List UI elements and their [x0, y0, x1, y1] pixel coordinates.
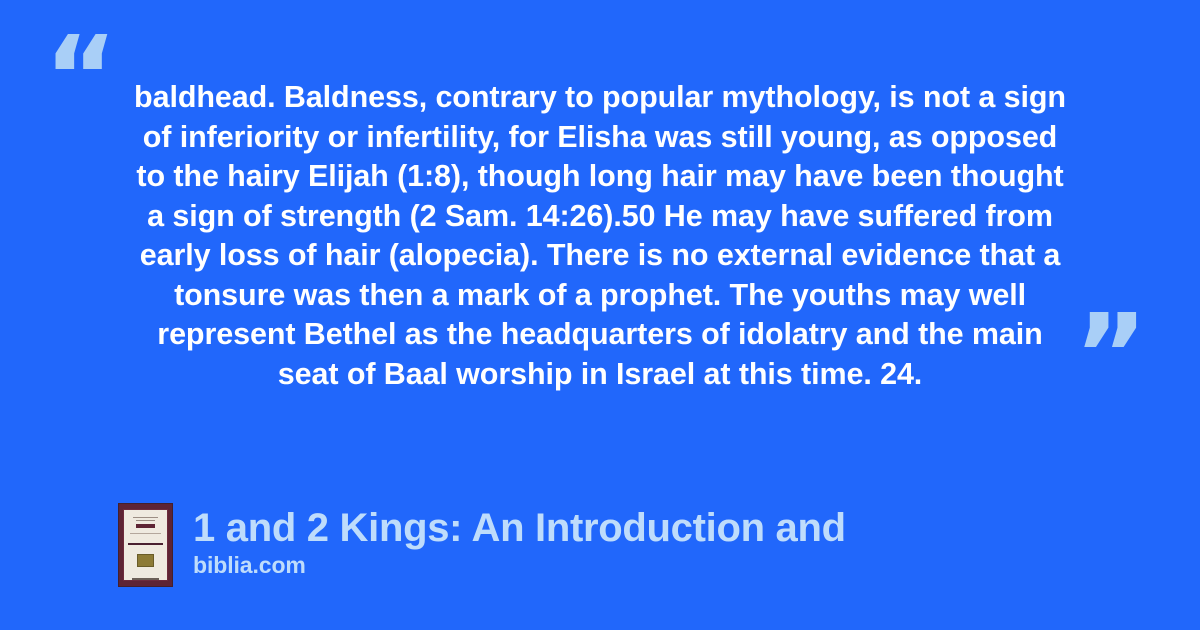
- book-cover-emblem-icon: [137, 554, 154, 567]
- closing-quote-icon: ”: [1074, 300, 1148, 412]
- quote-text: baldhead. Baldness, contrary to popular …: [128, 78, 1072, 394]
- book-cover-title-bar: [128, 543, 163, 546]
- quote-body: baldhead. Baldness, contrary to popular …: [128, 78, 1072, 394]
- book-cover-author-bar: [132, 578, 159, 580]
- book-cover-line-2: [136, 520, 155, 521]
- book-cover-line-1: [133, 517, 159, 518]
- footer-attribution: 1 and 2 Kings: An Introduction and bibli…: [118, 503, 846, 587]
- opening-quote-icon: “: [44, 22, 118, 134]
- book-cover-icon: [118, 503, 173, 587]
- quote-card: “ baldhead. Baldness, contrary to popula…: [0, 0, 1200, 630]
- book-cover-rule: [130, 533, 161, 534]
- footer-text-group: 1 and 2 Kings: An Introduction and bibli…: [193, 503, 846, 579]
- site-name: biblia.com: [193, 551, 846, 579]
- book-title: 1 and 2 Kings: An Introduction and: [193, 505, 846, 551]
- book-cover-band: [136, 524, 155, 528]
- book-cover-inner: [123, 509, 168, 581]
